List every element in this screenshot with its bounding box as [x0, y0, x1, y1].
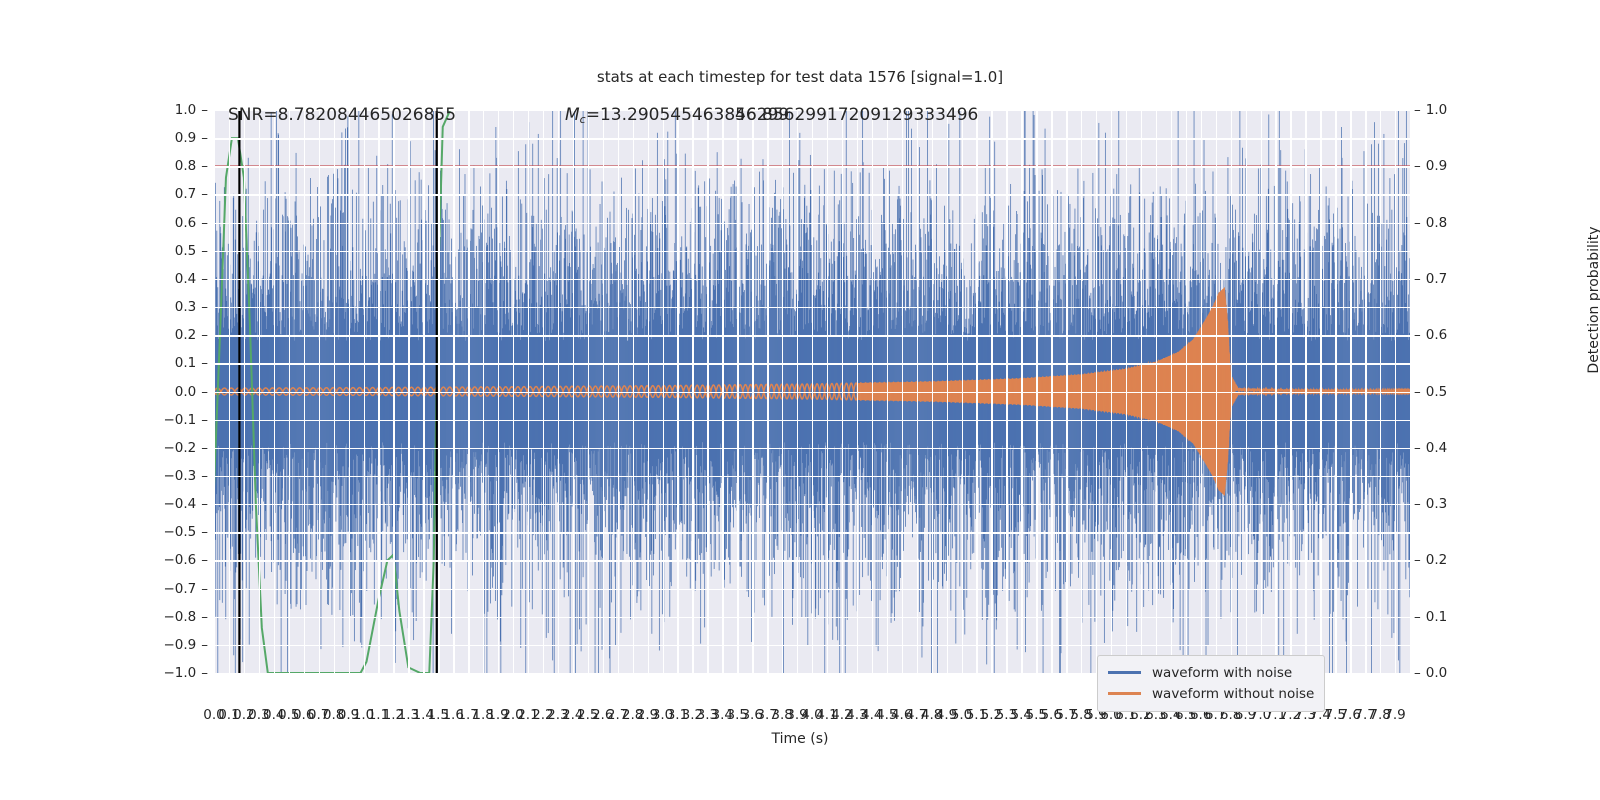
- y-tick-right: –0.3: [1414, 496, 1447, 512]
- y-tick-left: 0.4–: [175, 271, 208, 287]
- gridline-horizontal: [214, 335, 1410, 336]
- y-tick-right: –0.9: [1414, 158, 1447, 174]
- y-tick-right: –0.6: [1414, 327, 1447, 343]
- y-tick-left: 0.5–: [175, 243, 208, 259]
- gridline-horizontal: [214, 532, 1410, 533]
- matplotlib-figure: stats at each timestep for test data 157…: [0, 0, 1600, 800]
- legend-item-noise: waveform with noise: [1108, 662, 1314, 683]
- gridline-horizontal: [214, 307, 1410, 308]
- gridline-horizontal: [214, 392, 1410, 393]
- annotation-snr: SNR=8.782084465026855: [228, 105, 456, 125]
- y-tick-right: –0.4: [1414, 440, 1447, 456]
- y-tick-left: −0.5–: [163, 524, 208, 540]
- gridline-horizontal: [214, 589, 1410, 590]
- x-tick: 7.9: [1384, 707, 1405, 723]
- gridline-horizontal: [214, 363, 1410, 364]
- gridline-horizontal: [214, 251, 1410, 252]
- y-tick-left: 0.6–: [175, 215, 208, 231]
- gridline-horizontal: [214, 194, 1410, 195]
- y-tick-right: –0.7: [1414, 271, 1447, 287]
- y-tick-right: –0.5: [1414, 384, 1447, 400]
- y-tick-left: 0.0–: [175, 384, 208, 400]
- y-tick-left: −0.9–: [163, 637, 208, 653]
- gridline-horizontal: [214, 138, 1410, 139]
- y-tick-left: 0.1–: [175, 355, 208, 371]
- gridline-horizontal: [214, 645, 1410, 646]
- annotation-snr-text: SNR=8.782084465026855: [228, 105, 456, 125]
- annotation-overlap-value: 46.85629917209129333496: [735, 105, 978, 125]
- y-tick-left: 0.2–: [175, 327, 208, 343]
- y-tick-right: –0.2: [1414, 552, 1447, 568]
- gridline-horizontal: [214, 617, 1410, 618]
- y-tick-left: 0.3–: [175, 299, 208, 315]
- gridline-horizontal: [214, 448, 1410, 449]
- y-tick-left: −0.6–: [163, 552, 208, 568]
- noise-sample: [1409, 258, 1410, 597]
- y-tick-left: −0.1–: [163, 412, 208, 428]
- annotation-mc-symbol: M: [565, 105, 580, 125]
- gridline-horizontal: [214, 279, 1410, 280]
- legend-swatch-signal: [1108, 692, 1141, 695]
- chart-legend: waveform with noise waveform without noi…: [1097, 655, 1325, 712]
- y-tick-left: 1.0–: [175, 102, 208, 118]
- y-tick-left: −1.0–: [163, 665, 208, 681]
- legend-label-noise: waveform with noise: [1152, 665, 1292, 681]
- legend-item-signal: waveform without noise: [1108, 683, 1314, 704]
- legend-swatch-noise: [1108, 671, 1141, 674]
- y-tick-right: –1.0: [1414, 102, 1447, 118]
- y-tick-left: 0.9–: [175, 130, 208, 146]
- noise-sample: [675, 110, 676, 549]
- gridline-horizontal: [214, 166, 1410, 167]
- y-tick-right: –0.8: [1414, 215, 1447, 231]
- chart-title: stats at each timestep for test data 157…: [0, 68, 1600, 86]
- y-tick-left: 0.7–: [175, 186, 208, 202]
- y-tick-left: −0.3–: [163, 468, 208, 484]
- y-tick-right: –0.0: [1414, 665, 1447, 681]
- y-tick-left: −0.4–: [163, 496, 208, 512]
- y-tick-left: −0.7–: [163, 581, 208, 597]
- gridline-horizontal: [214, 504, 1410, 505]
- y-tick-left: −0.2–: [163, 440, 208, 456]
- y-tick-left: −0.8–: [163, 609, 208, 625]
- gridline-horizontal: [214, 476, 1410, 477]
- plot-area: [214, 110, 1410, 673]
- annotation-overlap-text: 46.85629917209129333496: [735, 105, 978, 125]
- legend-label-signal: waveform without noise: [1152, 686, 1314, 702]
- y-axis-label-right: Detection probability: [1586, 226, 1600, 373]
- y-tick-right: –0.1: [1414, 609, 1447, 625]
- y-tick-left: 0.8–: [175, 158, 208, 174]
- x-axis-label: Time (s): [0, 731, 1600, 747]
- gridline-horizontal: [214, 420, 1410, 421]
- gridline-horizontal: [214, 223, 1410, 224]
- gridline-horizontal: [214, 560, 1410, 561]
